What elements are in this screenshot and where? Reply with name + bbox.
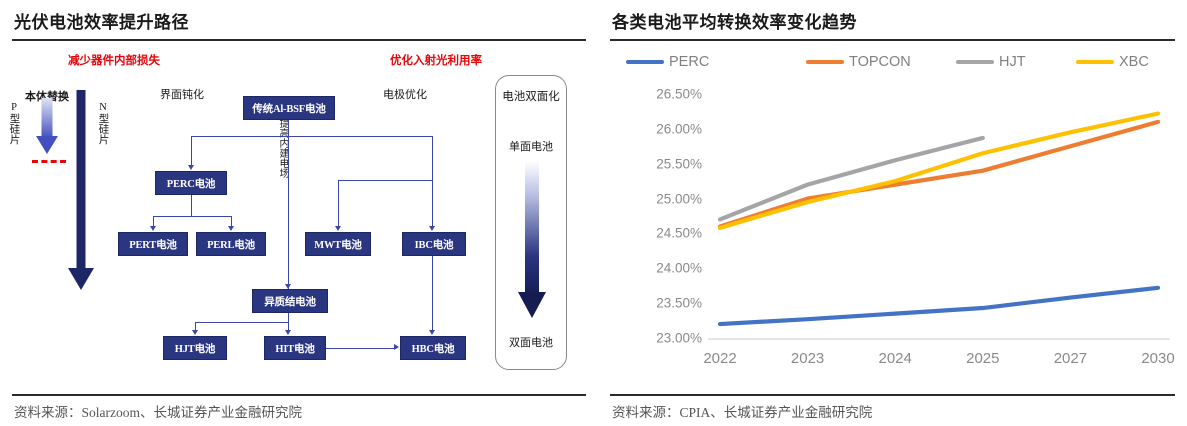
conn-albsf-to-electrode-h: [288, 136, 433, 137]
right-panel-title: 各类电池平均转换效率变化趋势: [598, 0, 1187, 39]
node-hbc[interactable]: HBC电池: [400, 336, 466, 360]
right-footer-divider: [610, 394, 1175, 396]
conn-hit-to-hbc-arrow: [394, 344, 399, 350]
node-hetero[interactable]: 异质结电池: [252, 289, 328, 313]
x-tick-2025: 2025: [966, 350, 999, 367]
conn-albsf-trunk: [288, 120, 289, 289]
right-source-note: 资料来源：CPIA、长城证券产业金融研究院: [612, 401, 872, 421]
x-tick-2022: 2022: [703, 350, 736, 367]
bifacial-box: 电池双面化 单面电池 双面电池: [495, 75, 567, 370]
right-panel: 各类电池平均转换效率变化趋势 PERC TOPCON HJT: [598, 0, 1187, 426]
node-hit[interactable]: HIT电池: [264, 336, 326, 360]
chart-plot-svg: [598, 40, 1187, 385]
conn-hbc-arrow: [429, 330, 435, 335]
bifacial-bottom-label: 双面电池: [496, 334, 566, 350]
conn-albsf-to-perc-h: [191, 136, 289, 137]
p-type-arrow-icon: [36, 98, 58, 156]
node-al-bsf[interactable]: 传统Al-BSF电池: [243, 96, 335, 120]
conn-perc-split: [153, 216, 231, 217]
x-tick-2024: 2024: [879, 350, 912, 367]
conn-mwt-arrow: [335, 226, 341, 231]
series-line-topcon: [720, 122, 1158, 227]
conn-pert-arrow: [150, 226, 156, 231]
bifacial-title: 电池双面化: [496, 90, 566, 104]
conn-perc-down: [191, 195, 192, 217]
conn-hetero-split: [195, 322, 289, 323]
x-tick-2030: 2030: [1141, 350, 1174, 367]
conn-perc-arrow: [188, 165, 194, 170]
conn-ibc-to-hbc: [432, 256, 433, 332]
node-hjt[interactable]: HJT电池: [163, 336, 227, 360]
conn-to-mwt-v: [338, 180, 339, 227]
conn-to-mwt-h: [338, 180, 433, 181]
label-enhance-field: 提高内建电场: [277, 118, 287, 178]
label-interface-passivation: 界面钝化: [160, 86, 204, 102]
label-electrode-optimization: 电极优化: [383, 86, 427, 102]
node-mwt[interactable]: MWT电池: [305, 232, 371, 256]
node-perc[interactable]: PERC电池: [155, 171, 227, 195]
heading-optimize-light: 优化入射光利用率: [390, 52, 482, 68]
x-tick-2027: 2027: [1054, 350, 1087, 367]
conn-electrode-v: [432, 136, 433, 227]
left-source-note: 资料来源：Solarzoom、长城证券产业金融研究院: [14, 401, 302, 421]
node-perl[interactable]: PERL电池: [196, 232, 266, 256]
bifacial-arrow-icon: [518, 161, 546, 321]
conn-albsf-trunk-arrow: [285, 284, 291, 289]
x-tick-2023: 2023: [791, 350, 824, 367]
left-footer-divider: [12, 394, 586, 396]
p-type-dashed-limit: [32, 160, 66, 163]
efficiency-trend-chart: PERC TOPCON HJT XBC 26.50%26.00%25.50%25…: [598, 40, 1187, 385]
heading-reduce-loss: 减少器件内部损失: [68, 52, 160, 68]
bifacial-top-label: 单面电池: [496, 138, 566, 154]
conn-ibc-arrow: [429, 226, 435, 231]
label-p-type-wafer: P型硅片: [8, 102, 19, 145]
conn-albsf-to-perc-v: [191, 136, 192, 166]
conn-hjt-arrow: [192, 330, 198, 335]
conn-perl-arrow: [228, 226, 234, 231]
left-panel-title: 光伏电池效率提升路径: [0, 0, 598, 39]
series-line-xbc: [720, 114, 1158, 228]
node-pert[interactable]: PERT电池: [118, 232, 188, 256]
conn-hit-arrow: [285, 330, 291, 335]
node-ibc[interactable]: IBC电池: [402, 232, 466, 256]
n-type-arrow-icon: [68, 90, 94, 290]
label-n-type-wafer: N型硅片: [97, 102, 108, 145]
left-panel: 光伏电池效率提升路径 减少器件内部损失 优化入射光利用率 本体替换 P型硅片 N…: [0, 0, 598, 426]
report-page: 光伏电池效率提升路径 减少器件内部损失 优化入射光利用率 本体替换 P型硅片 N…: [0, 0, 1187, 426]
series-line-perc: [720, 288, 1158, 324]
efficiency-path-diagram: 减少器件内部损失 优化入射光利用率 本体替换 P型硅片 N型硅片 界面钝化 电极…: [0, 40, 598, 385]
conn-hit-to-hbc: [326, 348, 396, 349]
